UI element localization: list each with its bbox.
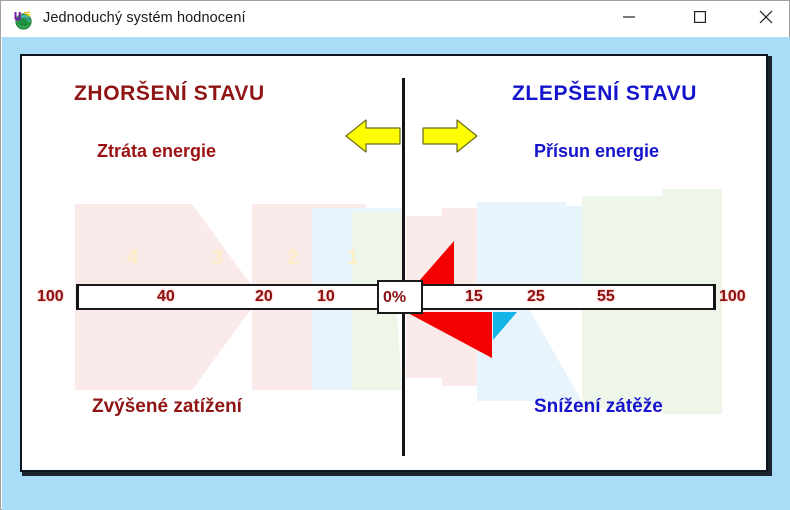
left-subheading: Ztráta energie: [97, 141, 216, 162]
direction-arrows: [344, 113, 479, 164]
app-window: Jednoduchý systém hodnocení: [0, 0, 790, 510]
zero-percent-label: 0%: [383, 289, 406, 307]
scale-label-right-100: 100: [719, 288, 746, 306]
scale-label-left-100: 100: [37, 288, 64, 306]
diagram-canvas: 4 3 2 1: [20, 54, 768, 472]
right-heading: ZLEPŠENÍ STAVU: [512, 82, 697, 106]
scale-label-right-25: 25: [527, 288, 545, 306]
minimize-icon: [623, 11, 635, 23]
right-subheading: Přísun energie: [534, 141, 659, 162]
right-footer: Snížení zátěže: [534, 396, 663, 418]
arrow-right-icon: [423, 120, 477, 152]
scale-label-right-55: 55: [597, 288, 615, 306]
scale-label-left-20: 20: [255, 288, 273, 306]
red-triangle-lower: [406, 312, 492, 358]
minimize-button[interactable]: [606, 1, 652, 33]
scale-tick-left-end: [76, 284, 79, 310]
maximize-icon: [694, 11, 706, 23]
window-background-pane: 4 3 2 1: [2, 37, 790, 510]
scale-tick-right-end: [713, 284, 716, 310]
scale-label-left-10: 10: [317, 288, 335, 306]
arrow-left-icon: [346, 120, 400, 152]
zero-percent-marker: 0%: [377, 280, 423, 314]
left-footer: Zvýšené zatížení: [92, 396, 242, 418]
title-bar: Jednoduchý systém hodnocení: [1, 1, 789, 38]
close-icon: [760, 11, 773, 24]
scale-label-left-40: 40: [157, 288, 175, 306]
left-heading: ZHORŠENÍ STAVU: [74, 82, 265, 106]
globe-app-icon: [12, 9, 34, 31]
scale-label-right-15: 15: [465, 288, 483, 306]
cyan-triangle: [493, 312, 517, 340]
window-title: Jednoduchý systém hodnocení: [43, 10, 246, 26]
close-button[interactable]: [743, 1, 789, 33]
maximize-button[interactable]: [677, 1, 723, 33]
